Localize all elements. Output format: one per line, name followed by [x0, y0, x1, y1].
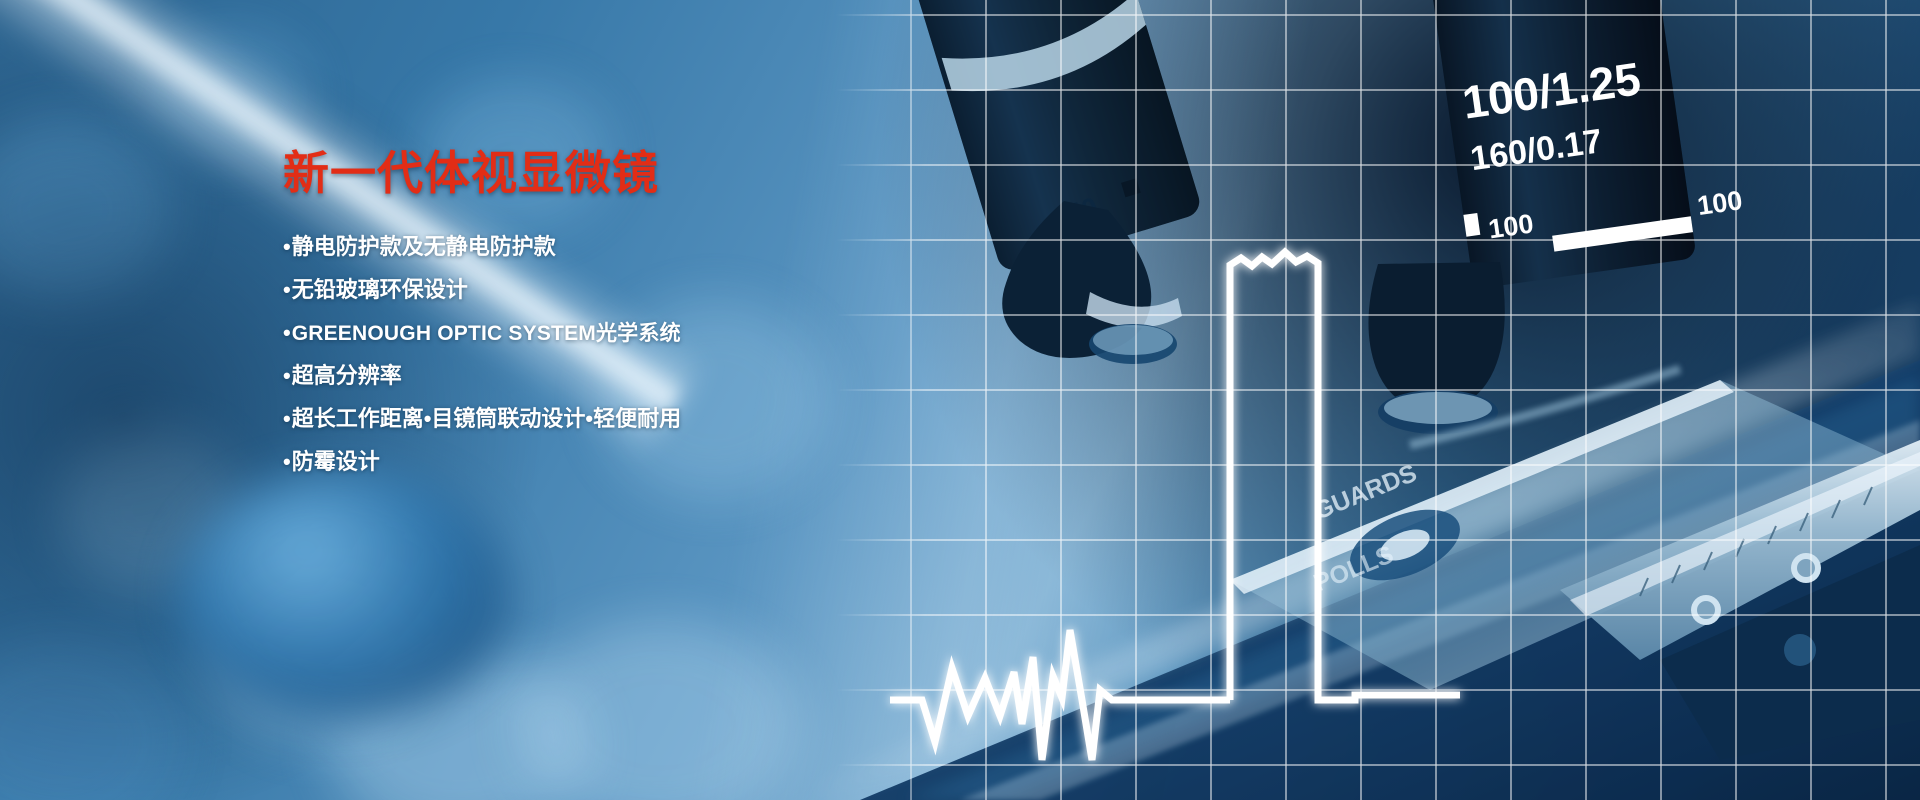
list-item: •GREENOUGH OPTIC SYSTEM光学系统 — [283, 322, 903, 344]
feature-text: 无铅玻璃环保设计 — [292, 277, 468, 302]
product-banner: 40 100/1.25 160/0.17 100 100 GUARDS — [0, 0, 1920, 800]
feature-text: 超高分辨率 — [292, 363, 402, 388]
bullet-marker-icon: • — [283, 236, 291, 258]
list-item: •超长工作距离•目镜筒联动设计•轻便耐用 — [283, 408, 903, 430]
feature-list: •静电防护款及无静电防护款 •无铅玻璃环保设计 •GREENOUGH OPTIC… — [283, 236, 903, 473]
feature-text: 静电防护款及无静电防护款 — [292, 234, 556, 259]
list-item: •超高分辨率 — [283, 365, 903, 387]
bullet-marker-icon: • — [283, 451, 291, 473]
bullet-marker-icon: • — [283, 279, 291, 301]
feature-text: GREENOUGH OPTIC SYSTEM光学系统 — [292, 322, 681, 345]
list-item: •无铅玻璃环保设计 — [283, 279, 903, 301]
page-title: 新一代体视显微镜 — [283, 150, 903, 196]
copy-block: 新一代体视显微镜 •静电防护款及无静电防护款 •无铅玻璃环保设计 •GREENO… — [283, 150, 903, 473]
bullet-marker-icon: • — [283, 365, 291, 387]
list-item: •静电防护款及无静电防护款 — [283, 236, 903, 258]
feature-text: 超长工作距离•目镜筒联动设计•轻便耐用 — [292, 406, 681, 431]
bullet-marker-icon: • — [283, 322, 291, 344]
bullet-marker-icon: • — [283, 408, 291, 430]
list-item: •防霉设计 — [283, 451, 903, 473]
feature-text: 防霉设计 — [292, 449, 380, 474]
